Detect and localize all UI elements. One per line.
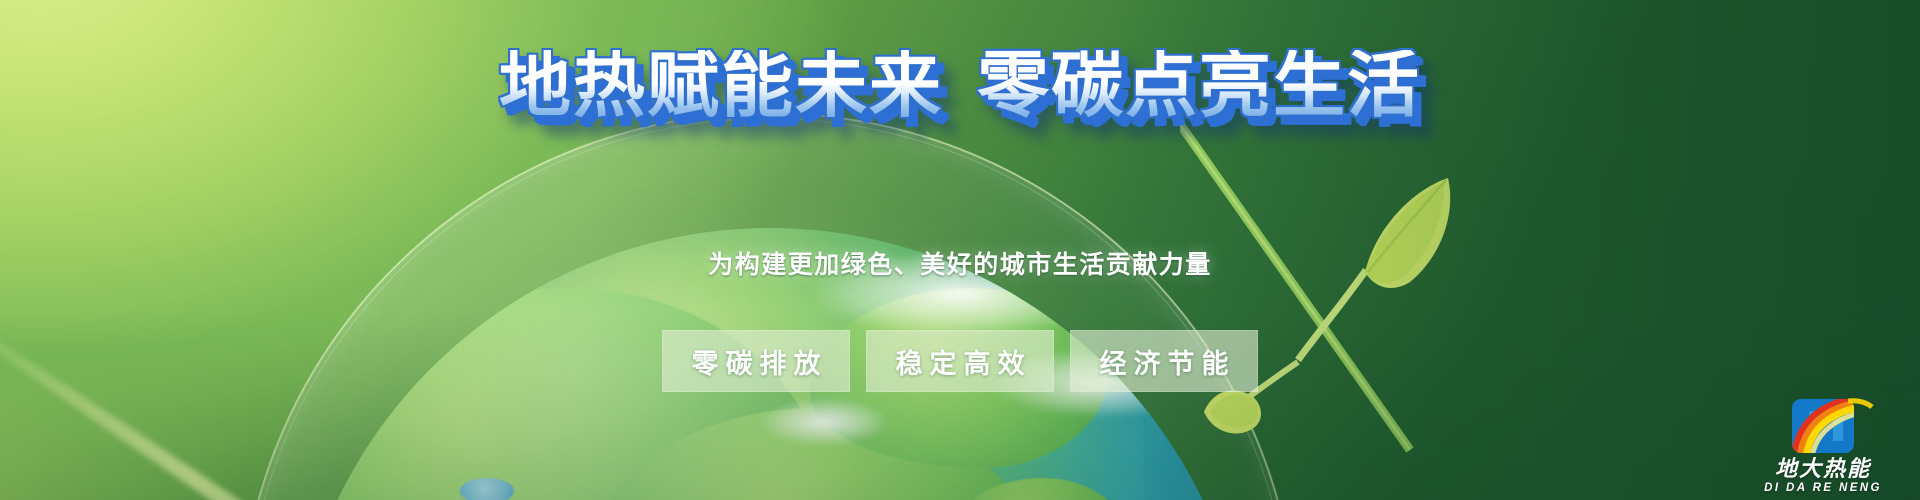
feature-tag-stable-efficient[interactable]: 稳定高效 — [866, 330, 1054, 392]
company-logo[interactable]: 地大热能 DI DA RE NENG — [1748, 395, 1898, 496]
logo-name-cn: 地大热能 — [1748, 457, 1898, 481]
feature-tag-list: 零碳排放 稳定高效 经济节能 — [0, 330, 1920, 392]
banner-content: 地热赋能未来零碳点亮生活 为构建更加绿色、美好的城市生活贡献力量 零碳排放 稳定… — [0, 0, 1920, 500]
hero-banner: 地热赋能未来零碳点亮生活 为构建更加绿色、美好的城市生活贡献力量 零碳排放 稳定… — [0, 0, 1920, 500]
page-title: 地热赋能未来零碳点亮生活 — [0, 50, 1920, 122]
logo-name-en: DI DA RE NENG — [1748, 481, 1898, 496]
feature-tag-economic-saving[interactable]: 经济节能 — [1070, 330, 1258, 392]
page-subtitle: 为构建更加绿色、美好的城市生活贡献力量 — [0, 245, 1920, 281]
feature-tag-zero-carbon[interactable]: 零碳排放 — [662, 330, 850, 392]
headline-part-1: 地热赋能未来 — [499, 46, 943, 126]
rainbow-square-logo-icon — [1748, 395, 1898, 457]
headline-part-2: 零碳点亮生活 — [977, 46, 1421, 126]
